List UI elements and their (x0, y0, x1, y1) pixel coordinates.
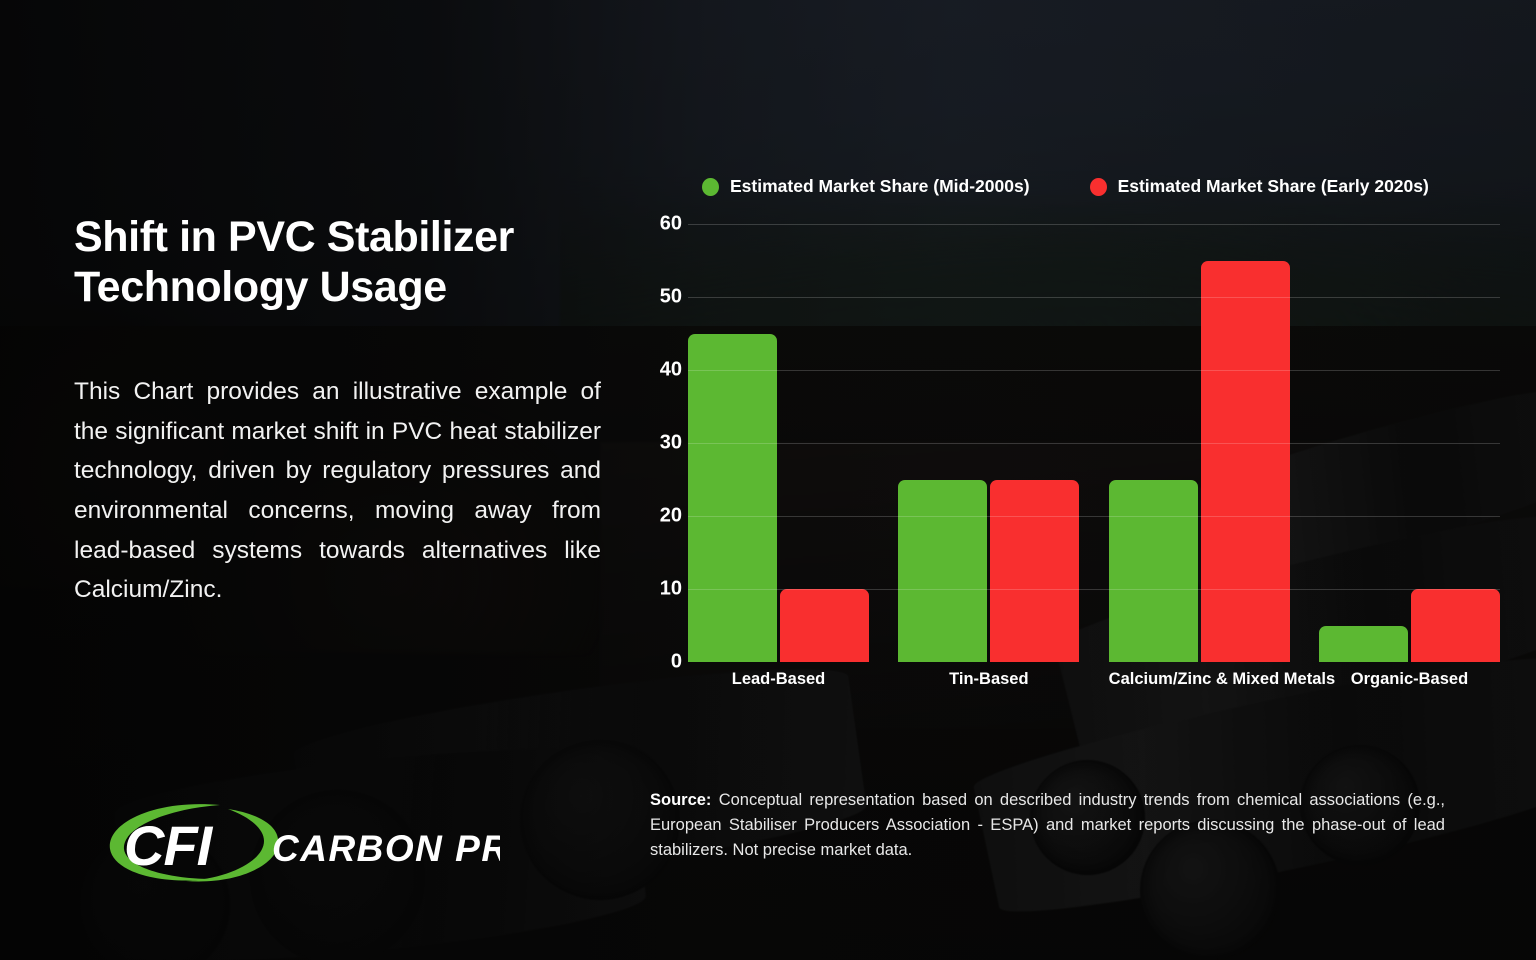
x-axis-label: Lead-Based (688, 670, 869, 689)
description-paragraph: This Chart provides an illustrative exam… (74, 372, 601, 610)
bar[interactable] (1201, 261, 1290, 663)
x-axis-label: Calcium/Zinc & Mixed Metals (1109, 670, 1290, 689)
bar[interactable] (898, 480, 987, 663)
source-label: Source: (650, 791, 711, 809)
gridline (688, 443, 1500, 444)
gridline (688, 516, 1500, 517)
x-axis-label: Organic-Based (1319, 670, 1500, 689)
gridline (688, 224, 1500, 225)
bar[interactable] (1319, 626, 1408, 663)
legend-label-early-2020s: Estimated Market Share (Early 2020s) (1118, 176, 1429, 197)
legend-swatch-red-icon (1090, 178, 1107, 196)
legend-label-mid-2000s: Estimated Market Share (Mid-2000s) (730, 176, 1030, 197)
gridline (688, 589, 1500, 590)
source-note: Source: Conceptual representation based … (650, 788, 1445, 863)
x-axis-labels: Lead-BasedTin-BasedCalcium/Zinc & Mixed … (688, 670, 1500, 689)
bar-chart: Estimated Market Share (Mid-2000s) Estim… (640, 176, 1500, 716)
page-title: Shift in PVC Stabilizer Technology Usage (74, 212, 604, 313)
bar[interactable] (780, 589, 869, 662)
x-axis-label: Tin-Based (898, 670, 1079, 689)
y-tick-label: 60 (640, 213, 682, 236)
bar[interactable] (1109, 480, 1198, 663)
plot-area (688, 224, 1500, 662)
legend-item-mid-2000s[interactable]: Estimated Market Share (Mid-2000s) (702, 176, 1030, 197)
y-tick-label: 30 (640, 432, 682, 455)
bar[interactable] (1411, 589, 1500, 662)
cfi-carbon-products-logo: CFI CARBON PRODUCTS (100, 795, 500, 891)
bar[interactable] (990, 480, 1079, 663)
chart-legend: Estimated Market Share (Mid-2000s) Estim… (702, 176, 1429, 197)
logo-svg: CFI CARBON PRODUCTS (100, 795, 500, 891)
logo-mark-text: CFI (124, 814, 214, 877)
logo-wordmark-text: CARBON PRODUCTS (272, 828, 500, 869)
y-tick-label: 40 (640, 359, 682, 382)
bar[interactable] (688, 334, 777, 663)
y-tick-label: 10 (640, 578, 682, 601)
y-tick-label: 50 (640, 286, 682, 309)
source-text: Conceptual representation based on descr… (650, 791, 1445, 859)
gridline (688, 370, 1500, 371)
y-tick-label: 0 (640, 651, 682, 674)
y-axis: 0102030405060 (640, 224, 682, 662)
legend-item-early-2020s[interactable]: Estimated Market Share (Early 2020s) (1090, 176, 1429, 197)
plot-wrapper: 0102030405060 Lead-BasedTin-BasedCalcium… (640, 224, 1500, 716)
y-tick-label: 20 (640, 505, 682, 528)
gridline (688, 297, 1500, 298)
legend-swatch-green-icon (702, 178, 719, 196)
